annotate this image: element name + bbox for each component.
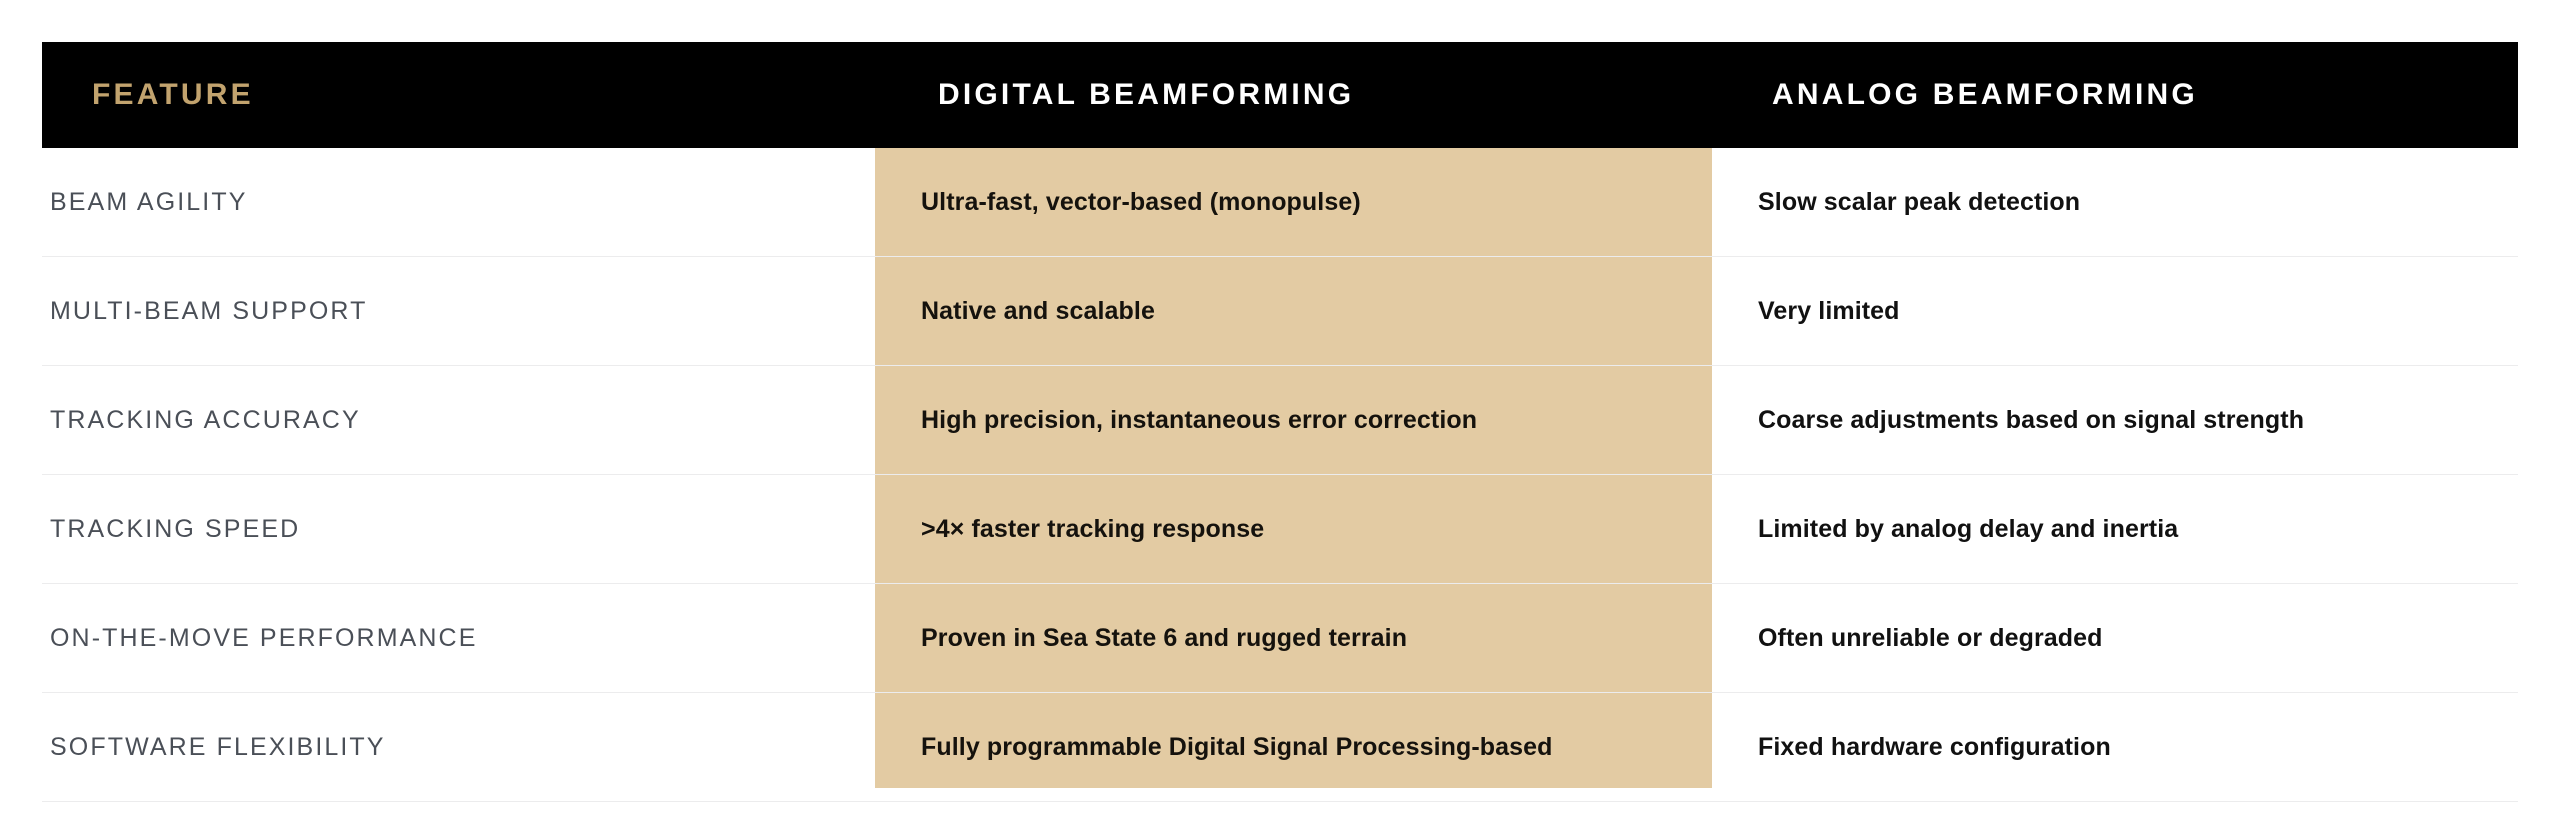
cell-feature: ON-THE-MOVE PERFORMANCE xyxy=(0,624,875,653)
column-header-analog-beamforming: ANALOG BEAMFORMING xyxy=(1712,78,2518,112)
cell-analog-beamforming: Often unreliable or degraded xyxy=(1712,624,2560,653)
cell-analog-beamforming: Very limited xyxy=(1712,297,2560,326)
table-body: BEAM AGILITY Ultra-fast, vector-based (m… xyxy=(0,148,2560,802)
table-row: TRACKING ACCURACY High precision, instan… xyxy=(0,366,2560,475)
column-header-feature: FEATURE xyxy=(42,78,875,112)
cell-feature: BEAM AGILITY xyxy=(0,188,875,217)
cell-digital-beamforming: Fully programmable Digital Signal Proces… xyxy=(875,733,1712,762)
cell-feature: SOFTWARE FLEXIBILITY xyxy=(0,733,875,762)
row-divider xyxy=(42,583,2518,584)
table-header-row: FEATURE DIGITAL BEAMFORMING ANALOG BEAMF… xyxy=(42,42,2518,148)
cell-feature: TRACKING ACCURACY xyxy=(0,406,875,435)
column-header-digital-beamforming: DIGITAL BEAMFORMING xyxy=(875,78,1712,112)
comparison-table: FEATURE DIGITAL BEAMFORMING ANALOG BEAMF… xyxy=(0,0,2560,833)
cell-feature: MULTI-BEAM SUPPORT xyxy=(0,297,875,326)
cell-feature: TRACKING SPEED xyxy=(0,515,875,544)
table-row: MULTI-BEAM SUPPORT Native and scalable V… xyxy=(0,257,2560,366)
cell-digital-beamforming: Ultra-fast, vector-based (monopulse) xyxy=(875,188,1712,217)
cell-digital-beamforming: >4× faster tracking response xyxy=(875,515,1712,544)
row-divider xyxy=(42,256,2518,257)
row-divider xyxy=(42,692,2518,693)
row-divider xyxy=(42,365,2518,366)
cell-analog-beamforming: Slow scalar peak detection xyxy=(1712,188,2560,217)
cell-analog-beamforming: Limited by analog delay and inertia xyxy=(1712,515,2560,544)
table-row: TRACKING SPEED >4× faster tracking respo… xyxy=(0,475,2560,584)
cell-digital-beamforming: High precision, instantaneous error corr… xyxy=(875,406,1712,435)
table-row: ON-THE-MOVE PERFORMANCE Proven in Sea St… xyxy=(0,584,2560,693)
row-divider xyxy=(42,801,2518,802)
cell-analog-beamforming: Coarse adjustments based on signal stren… xyxy=(1712,406,2560,435)
row-divider xyxy=(42,474,2518,475)
cell-analog-beamforming: Fixed hardware configuration xyxy=(1712,733,2560,762)
cell-digital-beamforming: Proven in Sea State 6 and rugged terrain xyxy=(875,624,1712,653)
cell-digital-beamforming: Native and scalable xyxy=(875,297,1712,326)
table-row: SOFTWARE FLEXIBILITY Fully programmable … xyxy=(0,693,2560,802)
table-row: BEAM AGILITY Ultra-fast, vector-based (m… xyxy=(0,148,2560,257)
